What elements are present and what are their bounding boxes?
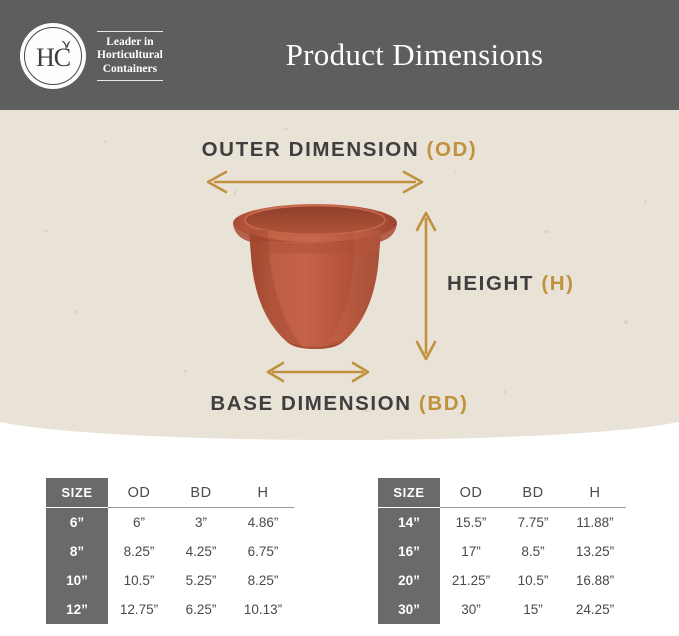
- table-row: 14” 15.5” 7.75” 11.88”: [378, 508, 626, 537]
- table-header-row: SIZE OD BD H: [46, 478, 294, 507]
- table-header-row: SIZE OD BD H: [378, 478, 626, 507]
- dimensions-table-right: SIZE OD BD H 14” 15.5” 7.75” 11.88” 16” …: [378, 478, 626, 624]
- cell-size: 10”: [46, 566, 108, 595]
- page-title: Product Dimensions: [0, 0, 679, 110]
- cell-od: 21.25”: [440, 566, 502, 595]
- height-abbr: (H): [541, 272, 574, 295]
- cell-h: 16.88”: [564, 566, 626, 595]
- column-header-size: SIZE: [46, 478, 108, 507]
- table-row: 10” 10.5” 5.25” 8.25”: [46, 566, 294, 595]
- table-right: SIZE OD BD H 14” 15.5” 7.75” 11.88” 16” …: [378, 478, 626, 624]
- cell-bd: 5.25”: [170, 566, 232, 595]
- page-header: HC Leader in Horticultural Containers Pr…: [0, 0, 679, 110]
- cell-od: 30”: [440, 595, 502, 624]
- height-label: HEIGHT (H): [447, 272, 575, 296]
- column-header-bd: BD: [502, 478, 564, 507]
- cell-od: 6”: [108, 508, 170, 537]
- cell-h: 13.25”: [564, 537, 626, 566]
- cell-bd: 10.5”: [502, 566, 564, 595]
- base-dimension-abbr: (BD): [419, 392, 469, 415]
- cell-bd: 4.25”: [170, 537, 232, 566]
- cell-h: 8.25”: [232, 566, 294, 595]
- dimensions-table-left: SIZE OD BD H 6” 6” 3” 4.86” 8” 8.25” 4.2…: [46, 478, 294, 624]
- cell-h: 11.88”: [564, 508, 626, 537]
- cell-od: 8.25”: [108, 537, 170, 566]
- table-row: 12” 12.75” 6.25” 10.13”: [46, 595, 294, 624]
- cell-bd: 6.25”: [170, 595, 232, 624]
- cell-bd: 8.5”: [502, 537, 564, 566]
- cell-od: 12.75”: [108, 595, 170, 624]
- outer-dimension-arrow-icon: [200, 168, 430, 196]
- cell-size: 8”: [46, 537, 108, 566]
- cell-size: 20”: [378, 566, 440, 595]
- cell-h: 6.75”: [232, 537, 294, 566]
- table-row: 30” 30” 15” 24.25”: [378, 595, 626, 624]
- cell-od: 10.5”: [108, 566, 170, 595]
- column-header-h: H: [564, 478, 626, 507]
- cell-size: 16”: [378, 537, 440, 566]
- cell-bd: 3”: [170, 508, 232, 537]
- table-row: 8” 8.25” 4.25” 6.75”: [46, 537, 294, 566]
- outer-dimension-text: OUTER DIMENSION: [202, 138, 420, 161]
- column-header-od: OD: [440, 478, 502, 507]
- cell-h: 10.13”: [232, 595, 294, 624]
- column-header-od: OD: [108, 478, 170, 507]
- cell-size: 30”: [378, 595, 440, 624]
- outer-dimension-label: OUTER DIMENSION (OD): [0, 138, 679, 162]
- column-header-h: H: [232, 478, 294, 507]
- outer-dimension-abbr: (OD): [427, 138, 478, 161]
- cell-od: 17”: [440, 537, 502, 566]
- column-header-bd: BD: [170, 478, 232, 507]
- base-dimension-label: BASE DIMENSION (BD): [0, 392, 679, 416]
- cell-bd: 15”: [502, 595, 564, 624]
- table-row: 20” 21.25” 10.5” 16.88”: [378, 566, 626, 595]
- cell-size: 14”: [378, 508, 440, 537]
- cell-size: 6”: [46, 508, 108, 537]
- height-text: HEIGHT: [447, 272, 534, 295]
- base-dimension-text: BASE DIMENSION: [210, 392, 411, 415]
- column-header-size: SIZE: [378, 478, 440, 507]
- cell-size: 12”: [46, 595, 108, 624]
- table-row: 16” 17” 8.5” 13.25”: [378, 537, 626, 566]
- cell-h: 4.86”: [232, 508, 294, 537]
- height-arrow-icon: [412, 208, 440, 364]
- table-left: SIZE OD BD H 6” 6” 3” 4.86” 8” 8.25” 4.2…: [46, 478, 294, 624]
- table-row: 6” 6” 3” 4.86”: [46, 508, 294, 537]
- cell-bd: 7.75”: [502, 508, 564, 537]
- cell-h: 24.25”: [564, 595, 626, 624]
- planter-pot-illustration: [225, 196, 405, 368]
- cell-od: 15.5”: [440, 508, 502, 537]
